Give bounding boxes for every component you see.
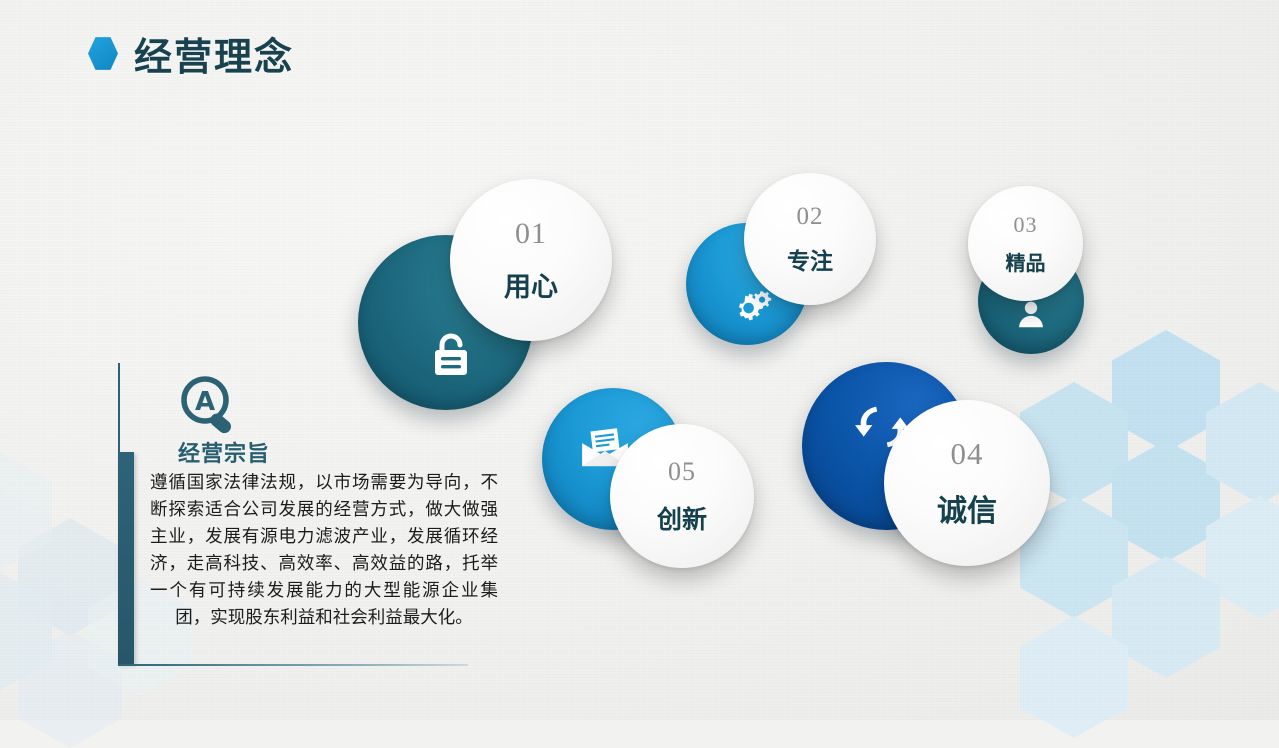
value-item-05[interactable]: 05 创新 — [542, 388, 742, 558]
value-label: 精品 — [1006, 247, 1046, 276]
value-white-circle: 01 用心 — [450, 179, 612, 341]
panel-body-text: 遵循国家法律法规，以市场需要为导向，不断探索适合公司发展的经营方式，做大做强主业… — [150, 470, 498, 632]
value-number: 03 — [1014, 212, 1038, 238]
value-number: 02 — [797, 203, 824, 231]
panel-top-rule — [118, 363, 120, 455]
slide-title-row: 经营理念 — [88, 26, 294, 81]
value-label: 诚信 — [937, 486, 997, 530]
value-label: 创新 — [657, 500, 707, 536]
lock-icon — [429, 330, 473, 378]
panel-heading: 经营宗旨 — [178, 436, 270, 468]
value-white-circle: 02 专注 — [744, 173, 876, 305]
panel-bottom-rule — [118, 664, 468, 666]
page-title: 经营理念 — [134, 26, 294, 81]
value-label: 用心 — [504, 265, 558, 304]
magnifier-a-icon: A — [176, 374, 248, 436]
gears-icon — [729, 290, 773, 326]
svg-text:A: A — [195, 387, 215, 417]
value-white-circle: 05 创新 — [610, 424, 754, 568]
value-white-circle: 04 诚信 — [884, 400, 1050, 566]
value-label: 专注 — [787, 242, 833, 276]
panel-accent-bar — [118, 452, 134, 664]
value-number: 04 — [951, 436, 984, 472]
person-icon — [1016, 299, 1046, 329]
hexagon-icon — [88, 37, 118, 71]
value-white-circle: 03 精品 — [968, 186, 1083, 301]
value-item-02[interactable]: 02 专注 — [686, 223, 906, 373]
decor-hexagon — [1112, 440, 1220, 562]
decor-hexagon — [1112, 556, 1220, 678]
value-item-04[interactable]: 04 诚信 — [802, 362, 1042, 562]
value-number: 01 — [515, 217, 547, 251]
slide-canvas: 经营理念 A 经营宗旨 遵循国家法律法规，以市场需要为导向，不断探索适合公司发展… — [0, 0, 1279, 720]
value-number: 05 — [668, 457, 696, 487]
